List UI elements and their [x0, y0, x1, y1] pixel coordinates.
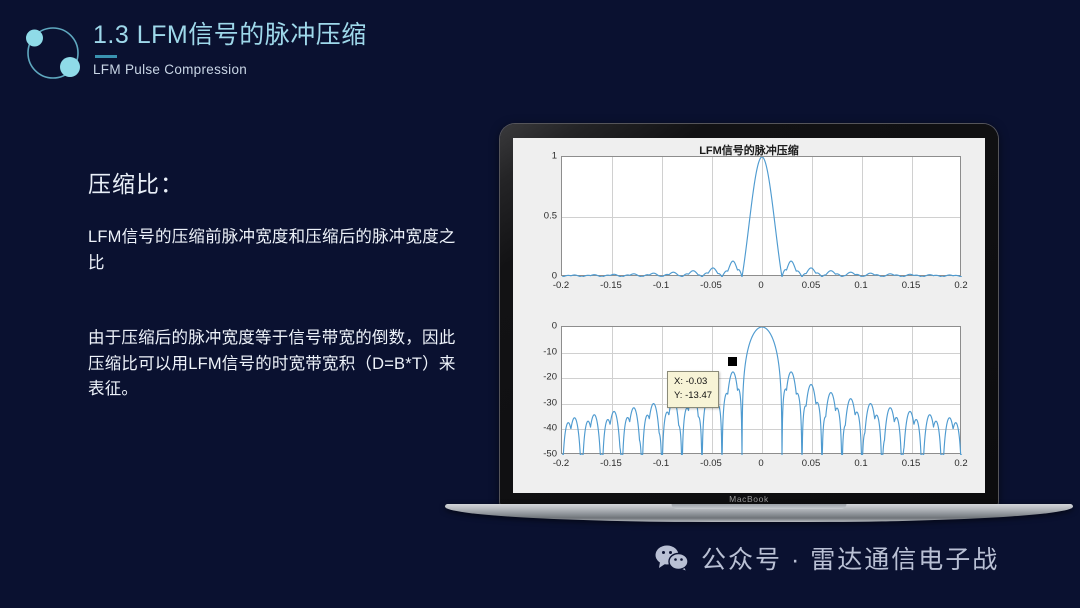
matlab-figure: LFM信号的脉冲压缩 — [513, 138, 985, 493]
tick-x-top-1: -0.15 — [600, 280, 622, 291]
tick-y-top-1: 0.5 — [531, 211, 557, 222]
tick-x-top-5: 0.05 — [802, 280, 821, 291]
tick-y-bottom-1: -10 — [529, 346, 557, 357]
tick-x-bottom-0: -0.2 — [553, 458, 569, 469]
tick-y-bottom-3: -30 — [529, 397, 557, 408]
datatip-marker[interactable] — [728, 357, 737, 366]
paragraph-explanation: 由于压缩后的脉冲宽度等于信号带宽的倒数，因此压缩比可以用LFM信号的时宽带宽积（… — [88, 326, 458, 403]
tick-y-bottom-2: -20 — [529, 372, 557, 383]
chart-top-line — [562, 157, 962, 277]
watermark-text: 公众号 · 雷达通信电子战 — [701, 540, 999, 576]
compression-ratio-heading: 压缩比： — [88, 165, 458, 199]
tick-x-top-3: -0.05 — [700, 280, 722, 291]
tick-x-bottom-5: 0.05 — [802, 458, 821, 469]
chart-top-linear: 0 0.5 1 -0.2 -0.15 -0.1 -0.05 0 0.05 0.1… — [513, 138, 985, 310]
tick-x-top-7: 0.15 — [902, 280, 921, 291]
laptop-screen: LFM信号的脉冲压缩 — [513, 138, 985, 493]
tick-x-bottom-4: 0 — [758, 458, 763, 469]
chart-top-axes — [561, 156, 961, 276]
datatip-x-value: X: -0.03 — [674, 375, 712, 389]
wechat-icon — [655, 544, 689, 572]
tick-x-top-4: 0 — [758, 280, 763, 291]
slide-header: 1.3 LFM信号的脉冲压缩 LFM Pulse Compression — [0, 0, 1080, 120]
chart-bottom-axes: X: -0.03 Y: -13.47 — [561, 326, 961, 454]
tick-x-bottom-3: -0.05 — [700, 458, 722, 469]
tick-x-bottom-8: 0.2 — [954, 458, 967, 469]
tick-x-bottom-6: 0.1 — [854, 458, 867, 469]
datatip-y-value: Y: -13.47 — [674, 389, 712, 403]
paragraph-definition: LFM信号的压缩前脉冲宽度和压缩后的脉冲宽度之比 — [88, 225, 458, 276]
tick-x-top-0: -0.2 — [553, 280, 569, 291]
macbook-mockup: LFM信号的脉冲压缩 — [445, 124, 1073, 524]
chart-bottom-db: X: -0.03 Y: -13.47 0 -10 -20 -30 -40 -50… — [513, 316, 985, 491]
page-title: 1.3 LFM信号的脉冲压缩 — [93, 20, 367, 51]
laptop-brand-label: MacBook — [500, 494, 998, 504]
tick-x-bottom-1: -0.15 — [600, 458, 622, 469]
body-text-block: 压缩比： LFM信号的压缩前脉冲宽度和压缩后的脉冲宽度之比 由于压缩后的脉冲宽度… — [88, 165, 458, 403]
laptop-base-notch — [672, 504, 847, 509]
laptop-base — [445, 504, 1073, 522]
tick-y-top-2: 1 — [541, 151, 557, 162]
tick-x-top-8: 0.2 — [954, 280, 967, 291]
tick-x-top-2: -0.1 — [653, 280, 669, 291]
tick-y-bottom-0: 0 — [535, 321, 557, 332]
tick-x-top-6: 0.1 — [854, 280, 867, 291]
chart-bottom-line — [562, 327, 962, 455]
circle-orbit-logo-icon — [20, 18, 86, 88]
tick-x-bottom-2: -0.1 — [653, 458, 669, 469]
title-block: 1.3 LFM信号的脉冲压缩 LFM Pulse Compression — [93, 20, 367, 77]
laptop-lid: LFM信号的脉冲压缩 — [500, 124, 998, 506]
page-subtitle: LFM Pulse Compression — [93, 62, 367, 77]
tick-y-bottom-4: -40 — [529, 423, 557, 434]
watermark: 公众号 · 雷达通信电子战 — [655, 540, 999, 576]
datatip-box[interactable]: X: -0.03 Y: -13.47 — [667, 371, 719, 408]
tick-x-bottom-7: 0.15 — [902, 458, 921, 469]
title-underline — [95, 55, 117, 58]
slide-canvas: 1.3 LFM信号的脉冲压缩 LFM Pulse Compression 压缩比… — [0, 0, 1080, 608]
